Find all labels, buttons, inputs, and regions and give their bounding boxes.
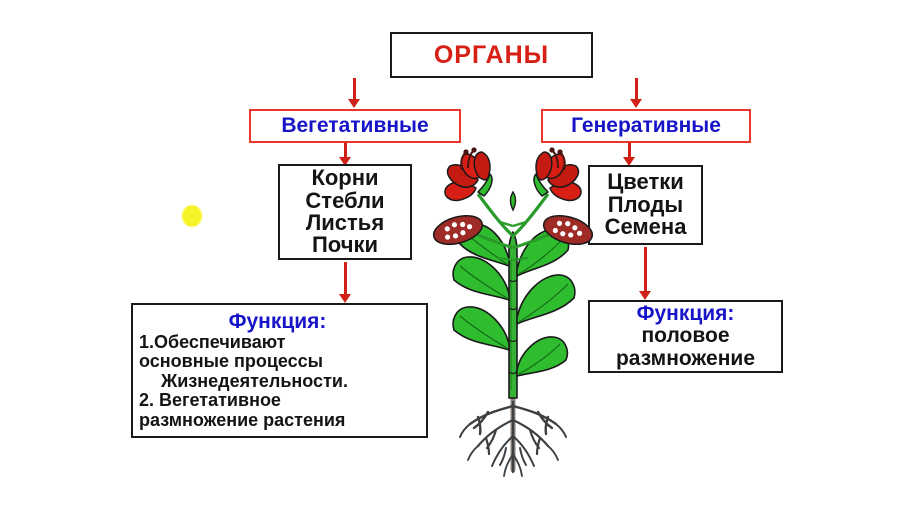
organ-item: Семена (605, 216, 687, 238)
arrow-organy-to-vegetativnye (347, 78, 361, 108)
category-box-generativnye: Генеративные (541, 109, 751, 143)
function-line: размножение (616, 348, 755, 371)
function-title: Функция: (229, 311, 337, 333)
organy-title-box: ОРГАНЫ (390, 32, 593, 78)
plant-roots-icon (460, 398, 566, 476)
plant-illustration (418, 140, 608, 480)
category-label-generativnye: Генеративные (571, 114, 721, 138)
function-line: 2. Вегетативное (139, 391, 281, 410)
organ-item: Почки (312, 234, 378, 256)
organy-title-label: ОРГАНЫ (434, 41, 549, 70)
function-box-vegetativnye: Функция: 1.Обеспечивают основные процесс… (131, 303, 428, 438)
arrow-generativnye-to-organs (622, 143, 636, 167)
function-line: размножение растения (139, 411, 345, 430)
organ-item: Корни (311, 167, 378, 189)
organ-item: Плоды (608, 194, 683, 216)
organ-list-box-vegetativnye: Корни Стебли Листья Почки (278, 164, 412, 260)
function-line: Жизнедеятельности. (139, 372, 348, 391)
category-box-vegetativnye: Вегетативные (249, 109, 461, 143)
function-box-generativnye: Функция: половое размножение (588, 300, 783, 373)
organ-item: Стебли (305, 190, 384, 212)
category-label-vegetativnye: Вегетативные (281, 114, 428, 138)
arrow-organy-to-generativnye (629, 78, 643, 108)
diagram-canvas: ОРГАНЫ Вегетативные Генеративные Корни С… (0, 0, 910, 512)
function-line: половое (641, 325, 729, 348)
function-line: основные процессы (139, 352, 323, 371)
arrow-generativnye-organs-to-function (638, 247, 652, 301)
function-line: 1.Обеспечивают (139, 333, 285, 352)
function-title: Функция: (637, 303, 735, 325)
organ-item: Цветки (607, 171, 684, 193)
yellow-dot-marker (182, 205, 202, 227)
organ-item: Листья (306, 212, 384, 234)
arrow-vegetativnye-organs-to-function (338, 262, 352, 304)
plant-stem-icon (509, 232, 517, 398)
